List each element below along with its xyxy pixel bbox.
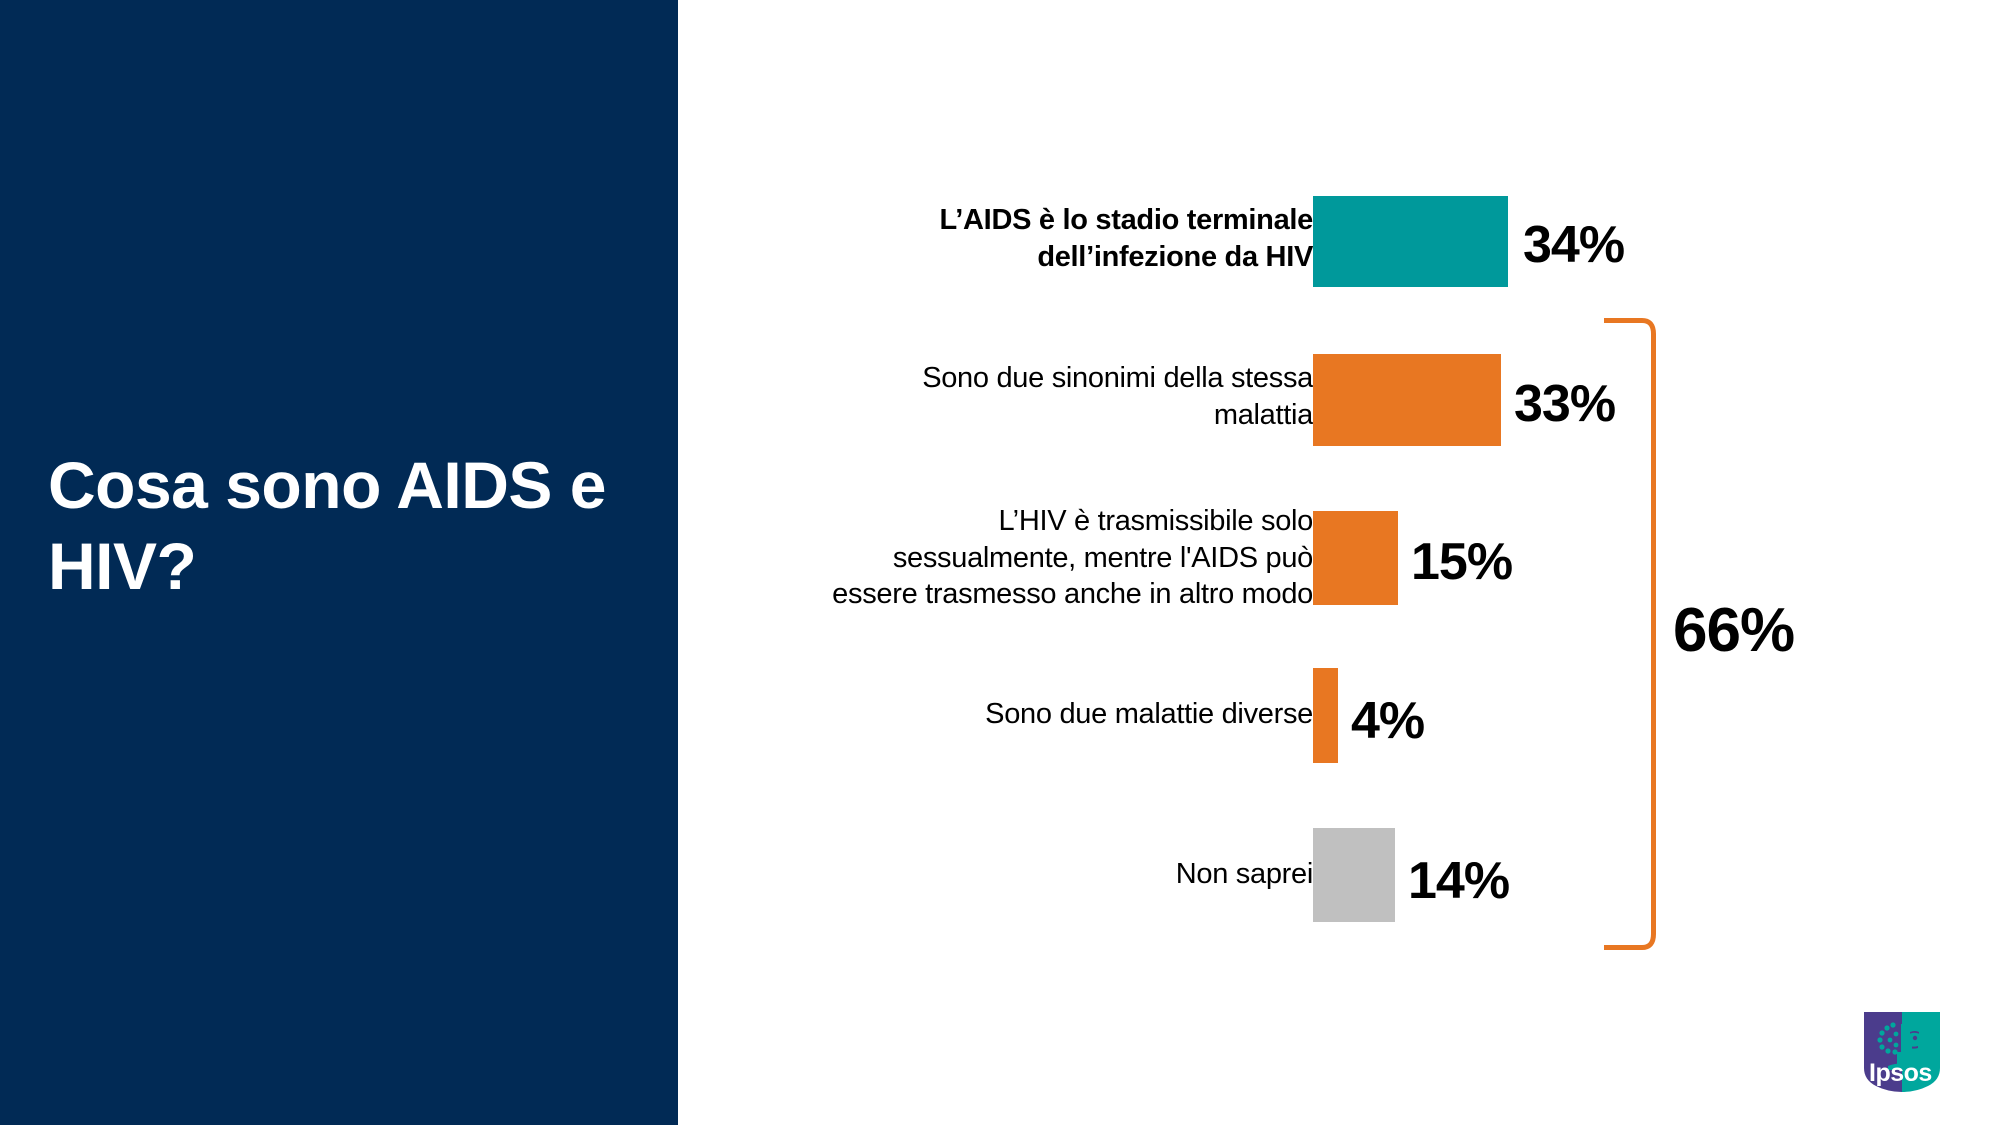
grouping-bracket bbox=[1604, 318, 1658, 950]
title-panel: Cosa sono AIDS e HIV? bbox=[0, 0, 678, 1125]
bar-rect-4 bbox=[1313, 828, 1395, 922]
bar-value-0: 34% bbox=[1523, 219, 1624, 271]
bar-value-1: 33% bbox=[1514, 378, 1615, 430]
bar-value-4: 14% bbox=[1408, 855, 1509, 907]
bar-chart: L’AIDS è lo stadio terminale dell’infezi… bbox=[678, 0, 2000, 1125]
bar-label-2: L’HIV è trasmissibile solo sessualmente,… bbox=[753, 503, 1313, 613]
bar-label-4: Non saprei bbox=[753, 856, 1313, 893]
bar-value-3: 4% bbox=[1351, 695, 1424, 747]
bar-rect-1 bbox=[1313, 354, 1501, 446]
bar-label-1: Sono due sinonimi della stessa malattia bbox=[753, 360, 1313, 433]
bar-label-3: Sono due malattie diverse bbox=[753, 696, 1313, 733]
bar-value-2: 15% bbox=[1411, 536, 1512, 588]
page-title: Cosa sono AIDS e HIV? bbox=[48, 445, 628, 606]
slide-canvas: Cosa sono AIDS e HIV? L’AIDS è lo stadio… bbox=[0, 0, 2000, 1125]
bar-label-0: L’AIDS è lo stadio terminale dell’infezi… bbox=[753, 202, 1313, 275]
bar-rect-2 bbox=[1313, 511, 1398, 605]
svg-text:Ipsos: Ipsos bbox=[1869, 1059, 1932, 1087]
bar-rect-0 bbox=[1313, 196, 1508, 287]
bar-rect-3 bbox=[1313, 668, 1338, 763]
total-percentage: 66% bbox=[1673, 600, 1794, 662]
ipsos-logo: Ipsos bbox=[1860, 1008, 1944, 1092]
